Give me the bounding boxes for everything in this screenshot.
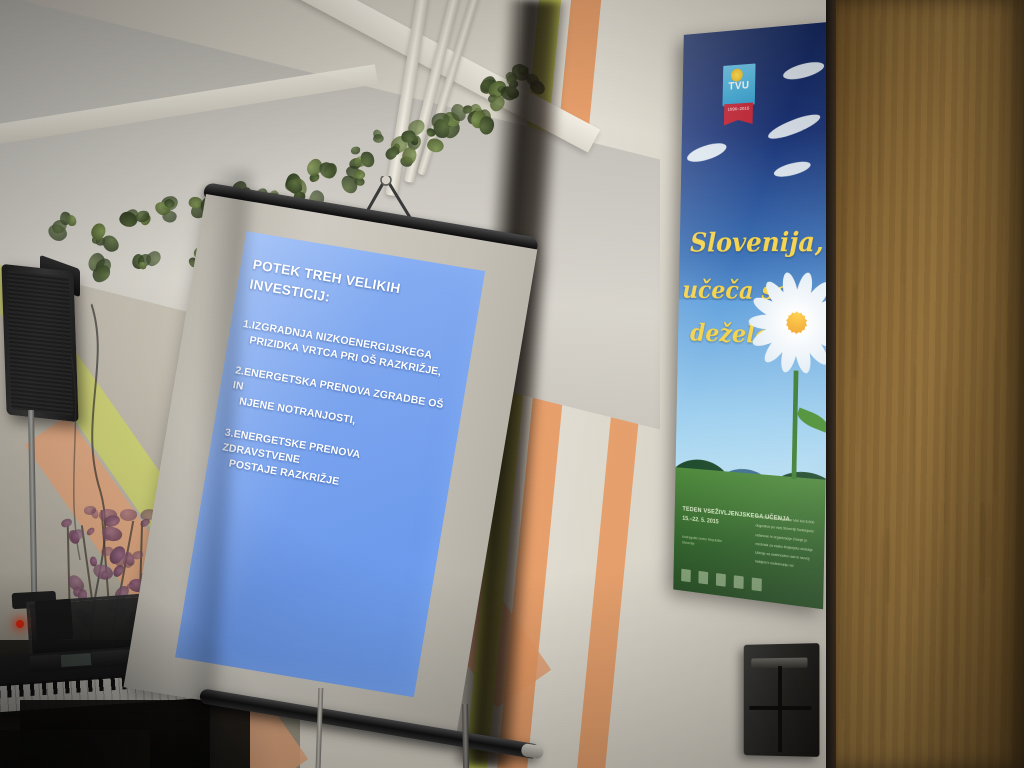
wood-grain-line xyxy=(954,387,959,692)
wood-grain-line xyxy=(1004,53,1007,299)
projection-screen: POTEK TREH VELIKIH INVESTICIJ: 1.IZGRADN… xyxy=(196,168,546,768)
flower-bloom xyxy=(85,526,96,537)
wood-grain-line xyxy=(852,284,857,379)
wood-grain-line xyxy=(986,503,992,577)
wood-grain-line xyxy=(840,188,844,486)
power-led-indicator xyxy=(16,620,24,628)
small-amp-box xyxy=(35,599,74,641)
screen-rod-tip xyxy=(520,743,544,759)
wood-grain-line xyxy=(982,600,985,665)
wood-grain-line xyxy=(914,620,916,768)
wood-grain-line xyxy=(993,338,997,495)
wall-mounted-box[interactable] xyxy=(744,643,820,757)
wood-grain-line xyxy=(903,273,907,566)
flower-bloom xyxy=(60,518,73,529)
slide-item-3-line-2: POSTAJE RAZKRIŽJE xyxy=(219,455,435,506)
wood-grain-line xyxy=(913,364,915,593)
flower-bloom xyxy=(72,586,80,596)
wood-grain-line xyxy=(935,29,940,135)
wood-grain-line xyxy=(944,369,947,526)
slide-bullet-list: 1.IZGRADNJA NIZKOENERGIJSKEGA PRIZIDKA V… xyxy=(219,317,458,506)
wood-grain-line xyxy=(886,528,890,603)
flower-bloom xyxy=(84,506,96,515)
wood-grain-line xyxy=(1007,291,1011,369)
tvu-poster: TVU 1996–2015 Slovenija, učeča se dežela… xyxy=(673,21,835,609)
wood-grain-line xyxy=(901,208,905,286)
wood-grain-line xyxy=(865,481,869,596)
wood-grain-line xyxy=(924,7,926,73)
wood-grain-line xyxy=(880,535,885,740)
piano-display xyxy=(60,652,93,668)
poster-glare xyxy=(673,21,835,609)
wood-door-panel xyxy=(836,0,1024,768)
wall-box-divider-horizontal xyxy=(749,706,811,710)
wood-grain-line xyxy=(878,20,881,195)
photo-scene: POTEK TREH VELIKIH INVESTICIJ: 1.IZGRADN… xyxy=(0,0,1024,768)
wood-grain-line xyxy=(869,149,872,464)
speaker-grille xyxy=(7,270,74,415)
flower-bloom xyxy=(119,508,137,522)
slide-title: POTEK TREH VELIKIH INVESTICIJ: xyxy=(248,255,468,331)
piano-bench xyxy=(0,730,150,768)
